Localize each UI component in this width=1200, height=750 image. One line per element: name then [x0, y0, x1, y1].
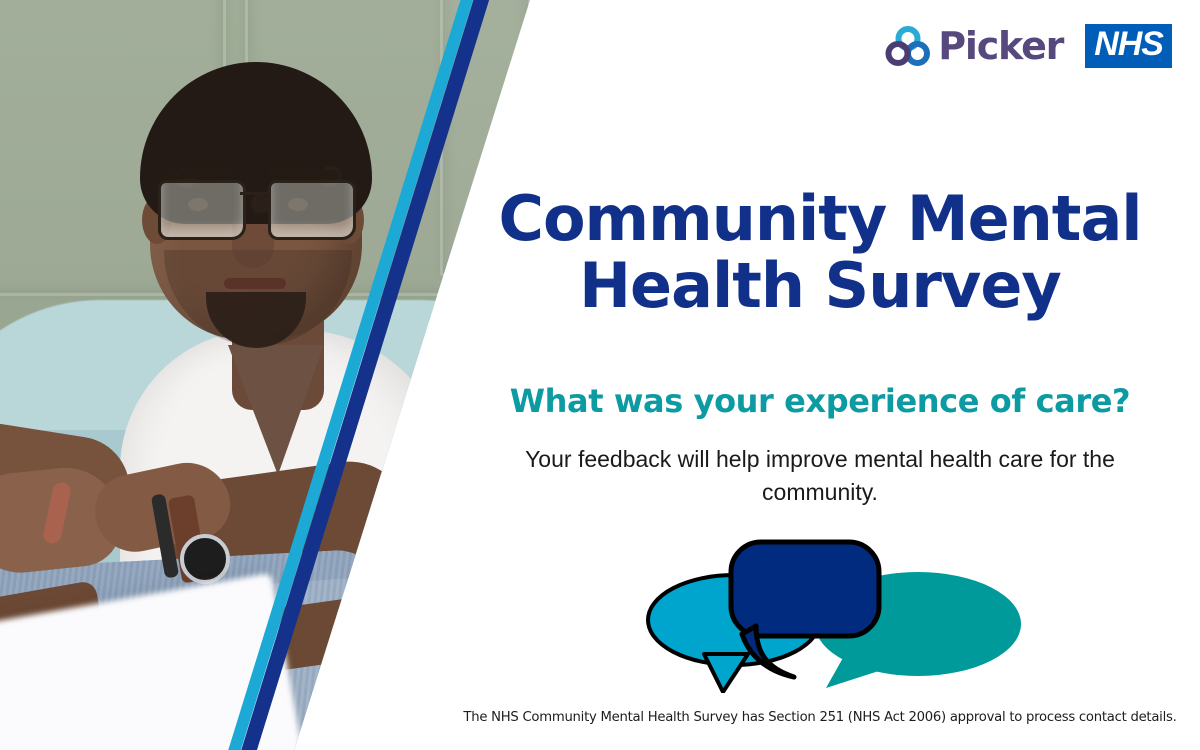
eyeglass-lens	[268, 180, 356, 240]
page-title-line-1: Community Mental	[460, 186, 1180, 253]
legal-footer: The NHS Community Mental Health Survey h…	[440, 710, 1200, 725]
subheadline: What was your experience of care?	[450, 382, 1190, 420]
survey-poster: Picker NHS Community Mental Health Surve…	[0, 0, 1200, 750]
eyeglass-bridge	[240, 192, 268, 195]
eyeglass-lens	[158, 180, 246, 240]
three-speech-bubbles	[630, 528, 1030, 693]
body-copy: Your feedback will help improve mental h…	[490, 443, 1150, 508]
page-title: Community Mental Health Survey	[460, 186, 1180, 320]
eyeglasses	[158, 180, 358, 236]
speech-bubbles-svg	[630, 528, 1030, 693]
watch-face	[180, 534, 230, 584]
page-title-line-2: Health Survey	[460, 253, 1180, 320]
mouth	[224, 278, 286, 289]
content-column: Community Mental Health Survey What was …	[440, 0, 1200, 750]
